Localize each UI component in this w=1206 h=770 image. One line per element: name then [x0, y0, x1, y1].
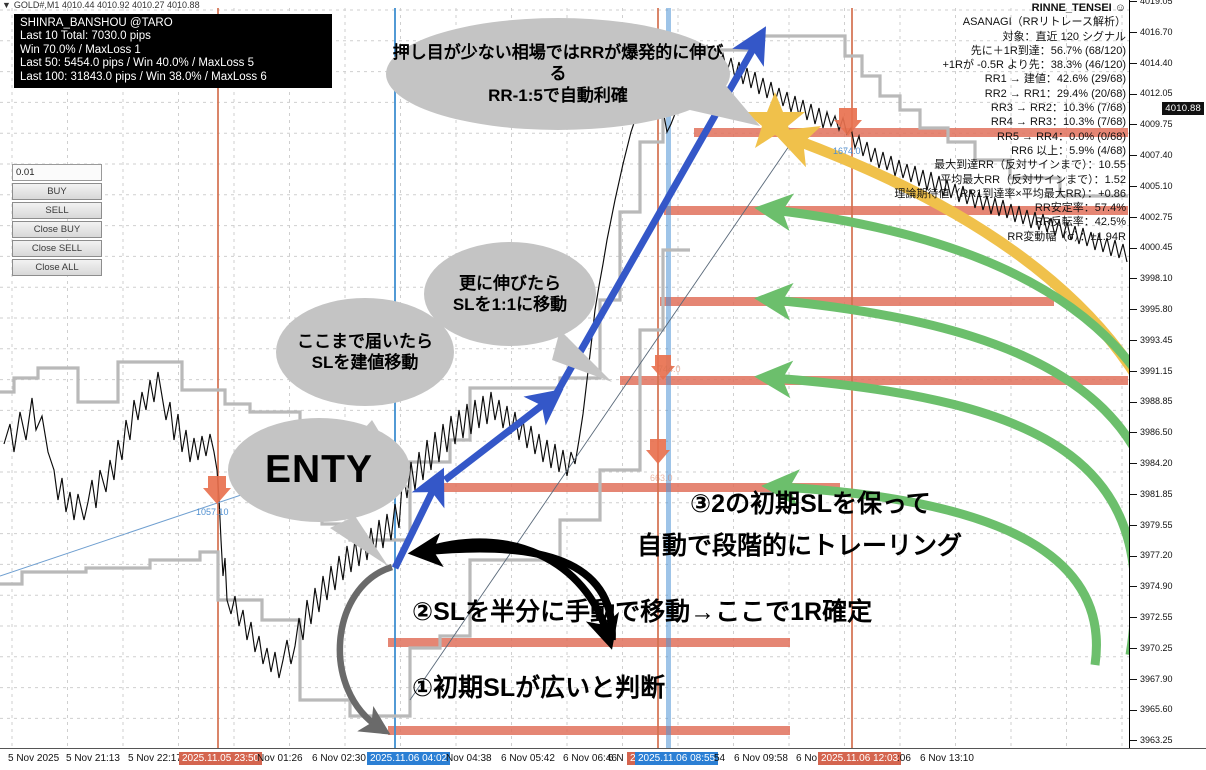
ea-title: SHINRA_BANSHOU @TARO — [20, 17, 326, 30]
time-tick-label: 5 Nov 2025 — [8, 753, 59, 764]
ea-stat-line: Win 70.0% / MaxLoss 1 — [20, 44, 326, 57]
stats-row: RR変動幅（σ）：±1.94R — [836, 230, 1126, 244]
price-tick: 3972.55 — [1130, 612, 1206, 622]
price-tick: 3984.20 — [1130, 458, 1206, 468]
bubble-line: ここまで届いたら — [297, 331, 433, 352]
stats-row: RR4 → RR3：10.3% (7/68) — [836, 115, 1126, 129]
stats-green-line: 先に＋1R到達：56.7% (68/120) — [836, 44, 1126, 58]
bubble-tail-entry — [330, 516, 388, 566]
time-tick-label: 2025.11.06 04:02 — [367, 752, 450, 765]
time-tick-label: 2025.11.06 08:55 — [635, 752, 718, 765]
price-tick: 3970.25 — [1130, 643, 1206, 653]
close-buy-button[interactable]: Close BUY — [12, 221, 102, 238]
bubble-move-sl-breakeven: ここまで届いたら SLを建値移動 — [276, 298, 454, 406]
time-tick-label: 6 No — [796, 753, 817, 764]
price-tick: 3977.20 — [1130, 550, 1206, 560]
bubble-entry: ENTY — [228, 418, 410, 522]
price-tick: 3963.25 — [1130, 735, 1206, 745]
time-tick-label: 6 Nov 02:30 — [312, 753, 366, 764]
price-tick: 4016.70 — [1130, 27, 1206, 37]
asanagi-stats-panel: RINNE_TENSEI ☺ ASANAGI（RRリトレース解析） 対象：直近 … — [836, 1, 1126, 244]
time-axis[interactable]: 5 Nov 20255 Nov 21:135 Nov 22:172025.11.… — [0, 748, 1206, 770]
time-tick-label: Nov 01:26 — [257, 753, 303, 764]
price-tick: 4007.40 — [1130, 150, 1206, 160]
time-tick-label: :06 — [897, 753, 911, 764]
symbol-ohlc-text: GOLD#,M1 4010.44 4010.92 4010.27 4010.88 — [14, 0, 200, 10]
stats-row: RR6 以上：5.9% (4/68) — [836, 144, 1126, 158]
bubble-line: SLを建値移動 — [297, 352, 433, 373]
time-tick-label: 5 Nov 21:13 — [66, 753, 120, 764]
buy-button[interactable]: BUY — [12, 183, 102, 200]
price-tick: 3974.90 — [1130, 581, 1206, 591]
stats-row: RR5 → RR4：0.0% (0/68) — [836, 130, 1126, 144]
close-sell-button[interactable]: Close SELL — [12, 240, 102, 257]
stats-row: RR反転率：42.5% — [836, 215, 1126, 229]
stats-row: RR安定率：57.4% — [836, 201, 1126, 215]
collapse-triangle-icon[interactable]: ▼ — [2, 0, 11, 10]
price-tick: 3995.80 — [1130, 304, 1206, 314]
bubble-line: ENTY — [265, 446, 373, 495]
time-tick-label: 6 Nov 13:10 — [920, 753, 974, 764]
time-tick-label: 6 Nov 05:42 — [501, 753, 555, 764]
time-tick-label: 5 Nov 22:17 — [128, 753, 182, 764]
trade-panel: 0.01 BUY SELL Close BUY Close SELL Close… — [12, 164, 102, 276]
price-axis[interactable]: 4019.054016.704014.404012.054009.754007.… — [1129, 0, 1206, 748]
price-tick: 3993.45 — [1130, 335, 1206, 345]
entry-arrow-label-left: 1057.10 — [196, 507, 229, 517]
price-tick: 3986.50 — [1130, 427, 1206, 437]
price-tick: 3998.10 — [1130, 273, 1206, 283]
time-tick-label: 2025.11.06 12:03 — [818, 752, 901, 765]
price-tick: 3965.60 — [1130, 704, 1206, 714]
stats-owner: RINNE_TENSEI ☺ — [836, 1, 1126, 15]
stats-target: 対象：直近 120 シグナル — [836, 30, 1126, 44]
ea-info-panel: SHINRA_BANSHOU @TARO Last 10 Total: 7030… — [14, 14, 332, 88]
anno-step2: ②SLを半分に手動で移動→ここで1R確定 — [412, 592, 872, 628]
close-all-button[interactable]: Close ALL — [12, 259, 102, 276]
stats-row: RR2 → RR1：29.4% (20/68) — [836, 87, 1126, 101]
ea-stat-line: Last 50: 5454.0 pips / Win 40.0% / MaxLo… — [20, 57, 326, 70]
price-tick: 4009.75 — [1130, 119, 1206, 129]
time-tick-label: 6 N — [608, 753, 624, 764]
stats-row: 平均最大RR（反対サインまで）：1.52 — [836, 173, 1126, 187]
symbol-header: ▼GOLD#,M1 4010.44 4010.92 4010.27 4010.8… — [2, 0, 200, 10]
bubble-line: RR-1:5で自動利確 — [386, 85, 730, 106]
price-tick: 3981.85 — [1130, 489, 1206, 499]
stats-row: RR1 → 建値：42.6% (29/68) — [836, 72, 1126, 86]
stats-row: RR3 → RR2：10.3% (7/68) — [836, 101, 1126, 115]
price-tick: 4002.75 — [1130, 212, 1206, 222]
price-tick: 3988.85 — [1130, 396, 1206, 406]
mid-marker-label: 744.0 — [658, 364, 681, 374]
chart-window: 1057.10 1674.0 744.0 663.0 ▼GOLD#,M1 401… — [0, 0, 1206, 770]
current-price-label: 4010.88 — [1162, 102, 1204, 115]
bubble-line: 押し目が少ない相場ではRRが爆発的に伸びる — [386, 42, 730, 85]
price-tick: 4012.05 — [1130, 88, 1206, 98]
price-tick: 4005.10 — [1130, 181, 1206, 191]
time-tick-label: Nov 04:38 — [446, 753, 492, 764]
bubble-rr-explode: 押し目が少ない相場ではRRが爆発的に伸びる RR-1:5で自動利確 — [386, 18, 730, 130]
ea-stat-line: Last 100: 31843.0 pips / Win 38.0% / Max… — [20, 71, 326, 84]
price-tick: 4000.45 — [1130, 242, 1206, 252]
stats-row: 最大到達RR（反対サインまで）：10.55 — [836, 158, 1126, 172]
low-marker-label: 663.0 — [650, 473, 673, 483]
time-tick-label: 6 Nov 09:58 — [734, 753, 788, 764]
anno-step3-line1: ③2の初期SLを保って — [690, 484, 931, 520]
price-tick: 4019.05 — [1130, 0, 1206, 6]
stats-row: 理論期待値（RR1到達率×平均最大RR）：+0.86 — [836, 187, 1126, 201]
price-tick: 3991.15 — [1130, 366, 1206, 376]
time-tick-label: 2025.11.05 23:50 — [179, 752, 262, 765]
stats-green-line: +1Rが -0.5R より先：38.3% (46/120) — [836, 58, 1126, 72]
bubble-line: 更に伸びたら — [453, 273, 567, 294]
price-tick: 3967.90 — [1130, 674, 1206, 684]
bubble-tail-sl-1to1 — [552, 330, 612, 382]
price-tick: 4014.40 — [1130, 58, 1206, 68]
sell-button[interactable]: SELL — [12, 202, 102, 219]
lot-size-input[interactable]: 0.01 — [12, 164, 102, 181]
bubble-move-sl-1to1: 更に伸びたら SLを1:1に移動 — [424, 242, 596, 346]
bubble-line: SLを1:1に移動 — [453, 294, 567, 315]
time-tick-label: 54 — [714, 753, 725, 764]
ea-stat-line: Last 10 Total: 7030.0 pips — [20, 30, 326, 43]
price-tick: 3979.55 — [1130, 520, 1206, 530]
stats-title: ASANAGI（RRリトレース解析） — [836, 15, 1126, 29]
anno-step3-line2: 自動で段階的にトレーリング — [637, 526, 962, 562]
anno-step1: ①初期SLが広いと判断 — [412, 668, 665, 704]
